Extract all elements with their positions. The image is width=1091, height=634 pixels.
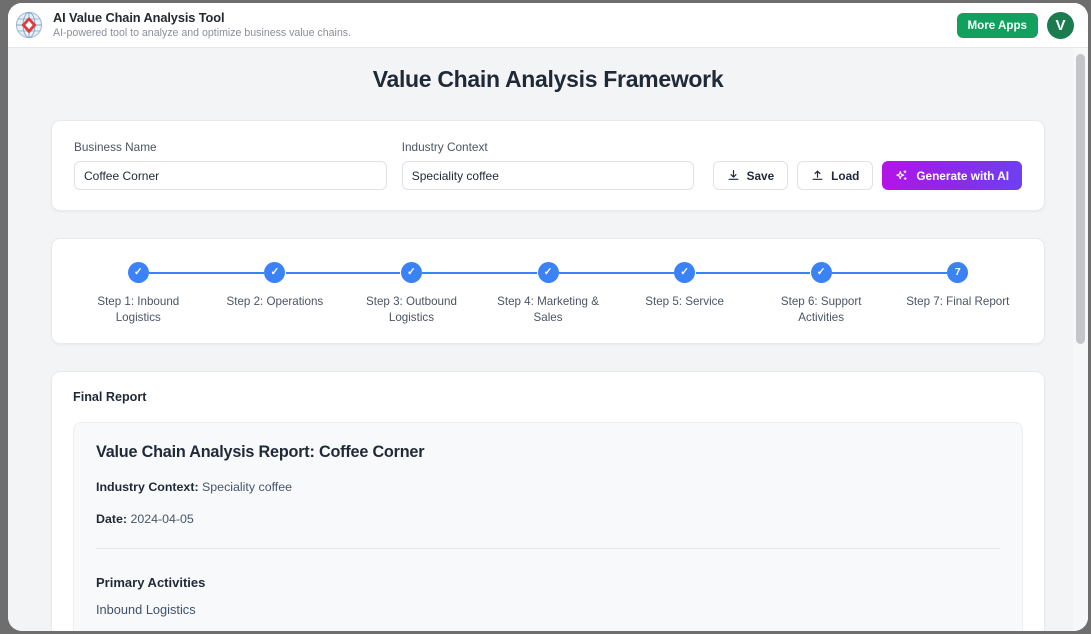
sparkles-icon — [895, 169, 909, 183]
upload-icon — [811, 169, 824, 182]
step-1-marker-row: ✓ — [70, 261, 207, 283]
app-header: AI Value Chain Analysis Tool AI-powered … — [8, 3, 1088, 48]
content-scroll-area: Value Chain Analysis Framework Business … — [8, 48, 1088, 631]
progress-stepper-card: ✓ Step 1: Inbound Logistics ✓ Step 2: Op… — [51, 238, 1045, 344]
step-5-connector-right — [696, 272, 753, 274]
final-report-card: Final Report Value Chain Analysis Report… — [51, 371, 1045, 631]
step-4-connector-left — [480, 272, 537, 274]
form-action-buttons: Save Load — [713, 161, 1022, 190]
step-6-marker-row: ✓ — [753, 261, 890, 283]
step-7-marker-row: 7 — [889, 261, 1026, 283]
step-7-label: Step 7: Final Report — [902, 294, 1013, 310]
step-4-label: Step 4: Marketing & Sales — [480, 294, 617, 325]
app-window: AI Value Chain Analysis Tool AI-powered … — [8, 3, 1088, 631]
primary-activities-heading: Primary Activities — [96, 575, 1000, 590]
step-7-connector-left — [889, 272, 946, 274]
globe-diamond-logo-icon — [14, 10, 44, 40]
load-button[interactable]: Load — [797, 161, 873, 190]
step-6-support-activities[interactable]: ✓ Step 6: Support Activities — [753, 261, 890, 325]
step-4-circle[interactable]: ✓ — [538, 262, 559, 283]
step-4-connector-right — [559, 272, 616, 274]
save-button-label: Save — [747, 169, 775, 183]
step-6-connector-left — [753, 272, 810, 274]
report-date-label: Date: — [96, 512, 127, 526]
more-apps-button[interactable]: More Apps — [957, 13, 1038, 38]
app-subtitle: AI-powered tool to analyze and optimize … — [53, 27, 351, 39]
primary-activity-inbound-logistics: Inbound Logistics — [96, 602, 1000, 617]
step-1-connector-right — [149, 272, 206, 274]
step-5-circle[interactable]: ✓ — [674, 262, 695, 283]
generate-button-label: Generate with AI — [916, 169, 1009, 183]
step-1-inbound-logistics[interactable]: ✓ Step 1: Inbound Logistics — [70, 261, 207, 325]
load-button-label: Load — [831, 169, 859, 183]
step-3-circle[interactable]: ✓ — [401, 262, 422, 283]
step-1-label: Step 1: Inbound Logistics — [70, 294, 207, 325]
industry-context-input[interactable] — [402, 161, 694, 190]
final-report-section-title: Final Report — [73, 390, 1023, 404]
step-4-marketing-and-sales[interactable]: ✓ Step 4: Marketing & Sales — [480, 261, 617, 325]
step-4-marker-row: ✓ — [480, 261, 617, 283]
report-divider — [96, 548, 1000, 549]
report-industry-context-value: Speciality coffee — [202, 480, 292, 494]
step-7-final-report[interactable]: 7 Step 7: Final Report — [889, 261, 1026, 310]
step-5-connector-left — [616, 272, 673, 274]
header-actions: More Apps V — [957, 12, 1074, 39]
step-2-operations[interactable]: ✓ Step 2: Operations — [207, 261, 344, 310]
step-2-connector-left — [207, 272, 264, 274]
step-6-connector-right — [832, 272, 889, 274]
step-5-marker-row: ✓ — [616, 261, 753, 283]
report-industry-context-row: Industry Context: Speciality coffee — [96, 480, 1000, 494]
step-1-circle[interactable]: ✓ — [128, 262, 149, 283]
desktop-background: AI Value Chain Analysis Tool AI-powered … — [0, 0, 1091, 634]
save-button[interactable]: Save — [713, 161, 789, 190]
step-3-label: Step 3: Outbound Logistics — [343, 294, 480, 325]
report-industry-context-label: Industry Context: — [96, 480, 199, 494]
app-title: AI Value Chain Analysis Tool — [53, 11, 351, 26]
step-5-label: Step 5: Service — [641, 294, 728, 310]
report-document: Value Chain Analysis Report: Coffee Corn… — [73, 422, 1023, 631]
business-form-card: Business Name Industry Context — [51, 120, 1045, 211]
step-6-circle[interactable]: ✓ — [811, 262, 832, 283]
generate-with-ai-button[interactable]: Generate with AI — [882, 161, 1022, 190]
download-icon — [727, 169, 740, 182]
business-name-label: Business Name — [74, 140, 387, 154]
step-3-outbound-logistics[interactable]: ✓ Step 3: Outbound Logistics — [343, 261, 480, 325]
app-title-block: AI Value Chain Analysis Tool AI-powered … — [53, 11, 351, 40]
step-7-circle[interactable]: 7 — [947, 262, 968, 283]
business-name-input[interactable] — [74, 161, 387, 190]
business-name-field: Business Name — [74, 140, 387, 190]
industry-context-label: Industry Context — [402, 140, 694, 154]
vertical-scrollbar-thumb[interactable] — [1076, 54, 1085, 344]
step-2-label: Step 2: Operations — [223, 294, 328, 310]
step-2-circle[interactable]: ✓ — [264, 262, 285, 283]
step-3-connector-right — [422, 272, 479, 274]
report-date-value: 2024-04-05 — [130, 512, 193, 526]
step-2-marker-row: ✓ — [207, 261, 344, 283]
step-3-connector-left — [343, 272, 400, 274]
page-body: Value Chain Analysis Framework Business … — [8, 48, 1088, 631]
step-6-label: Step 6: Support Activities — [753, 294, 890, 325]
avatar[interactable]: V — [1047, 12, 1074, 39]
report-date-row: Date: 2024-04-05 — [96, 512, 1000, 526]
report-heading: Value Chain Analysis Report: Coffee Corn… — [96, 443, 1000, 462]
step-5-service[interactable]: ✓ Step 5: Service — [616, 261, 753, 310]
step-2-connector-right — [286, 272, 343, 274]
page-title: Value Chain Analysis Framework — [8, 48, 1088, 93]
step-3-marker-row: ✓ — [343, 261, 480, 283]
progress-stepper: ✓ Step 1: Inbound Logistics ✓ Step 2: Op… — [70, 261, 1026, 325]
industry-context-field: Industry Context — [402, 140, 694, 190]
vertical-scrollbar-track[interactable] — [1073, 48, 1088, 631]
